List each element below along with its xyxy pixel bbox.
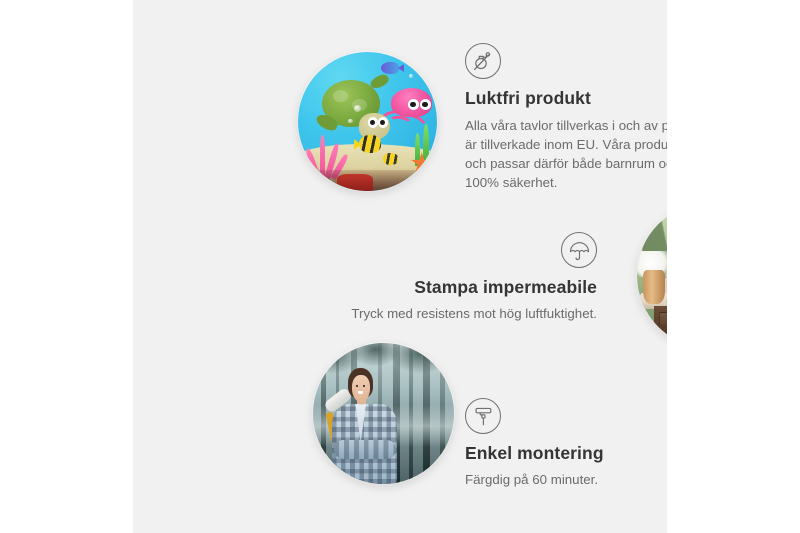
feature-waterproof: Stampa impermeabile Tryck med resistens … bbox=[301, 232, 597, 323]
feature-title: Luktfri produkt bbox=[465, 88, 667, 110]
feature-easy-mounting: Enkel montering Färgdig på 60 minuter. bbox=[465, 398, 667, 489]
paint-roller-icon bbox=[465, 398, 501, 434]
fish-blue bbox=[381, 62, 399, 75]
feature-odour-free: Luktfri produkt Alla våra tavlor tillver… bbox=[465, 43, 667, 192]
image-woman-forest-mural bbox=[313, 343, 454, 484]
woman-with-roller bbox=[327, 368, 409, 484]
feature-title: Enkel montering bbox=[465, 443, 667, 465]
no-odour-spray-bottle-icon bbox=[465, 43, 501, 79]
image-underwater-cartoon bbox=[298, 52, 437, 191]
feature-body: Färgdig på 60 minuter. bbox=[465, 470, 667, 489]
vanity-cabinet bbox=[654, 306, 667, 348]
feature-title: Stampa impermeabile bbox=[301, 277, 597, 299]
screenshot-stage: Luktfri produkt Alla våra tavlor tillver… bbox=[0, 0, 800, 533]
feature-body: Alla våra tavlor tillverkas i och av pro… bbox=[465, 116, 667, 193]
feature-panel: Luktfri produkt Alla våra tavlor tillver… bbox=[133, 0, 667, 533]
bubble-icon bbox=[354, 105, 361, 112]
seabed bbox=[298, 170, 437, 191]
fish-striped-small bbox=[383, 153, 398, 164]
fish-striped bbox=[359, 135, 381, 153]
image-bathroom-botanical bbox=[637, 203, 667, 348]
umbrella-icon bbox=[561, 232, 597, 268]
feature-body: Tryck med resistens mot hög luftfuktighe… bbox=[301, 304, 597, 323]
vase bbox=[643, 270, 665, 305]
